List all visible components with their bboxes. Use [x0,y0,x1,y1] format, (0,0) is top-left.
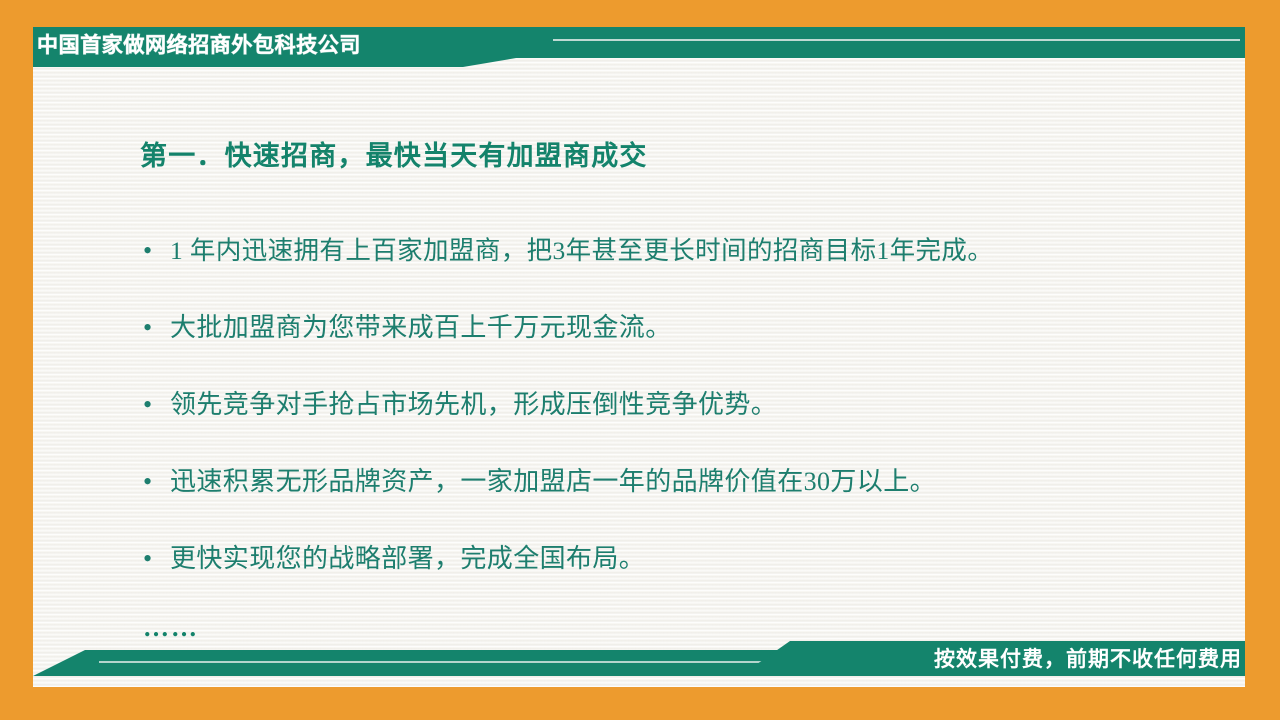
page-title: 第一．快速招商，最快当天有加盟商成交 [140,134,648,173]
benefits-list: • 1 年内迅速拥有上百家加盟商，把3年甚至更长时间的招商目标1年完成。 • 大… [143,234,1213,619]
list-item-text: 迅速积累无形品牌资产，一家加盟店一年的品牌价值在30万以上。 [170,465,1213,499]
list-item: • 领先竞争对手抢占市场先机，形成压倒性竞争优势。 [143,388,1213,465]
list-item-text: 大批加盟商为您带来成百上千万元现金流。 [170,311,1213,345]
list-item: • 更快实现您的战略部署，完成全国布局。 [143,542,1213,619]
footer-tagline: 按效果付费，前期不收任何费用 [934,645,1242,675]
bullet-dot-icon: • [143,388,170,422]
header-title: 中国首家做网络招商外包科技公司 [37,30,361,61]
bullet-dot-icon: • [143,542,170,576]
list-item-text: 领先竞争对手抢占市场先机，形成压倒性竞争优势。 [170,388,1213,422]
list-item-text: 更快实现您的战略部署，完成全国布局。 [170,542,1213,576]
continuation-ellipsis: …… [143,614,199,642]
slide-canvas: 中国首家做网络招商外包科技公司 第一．快速招商，最快当天有加盟商成交 • 1 年… [0,0,1280,720]
list-item-text: 1 年内迅速拥有上百家加盟商，把3年甚至更长时间的招商目标1年完成。 [170,234,1213,268]
bullet-dot-icon: • [143,311,170,345]
list-item: • 迅速积累无形品牌资产，一家加盟店一年的品牌价值在30万以上。 [143,465,1213,542]
list-item: • 1 年内迅速拥有上百家加盟商，把3年甚至更长时间的招商目标1年完成。 [143,234,1213,311]
list-item: • 大批加盟商为您带来成百上千万元现金流。 [143,311,1213,388]
bullet-dot-icon: • [143,465,170,499]
bullet-dot-icon: • [143,234,170,268]
